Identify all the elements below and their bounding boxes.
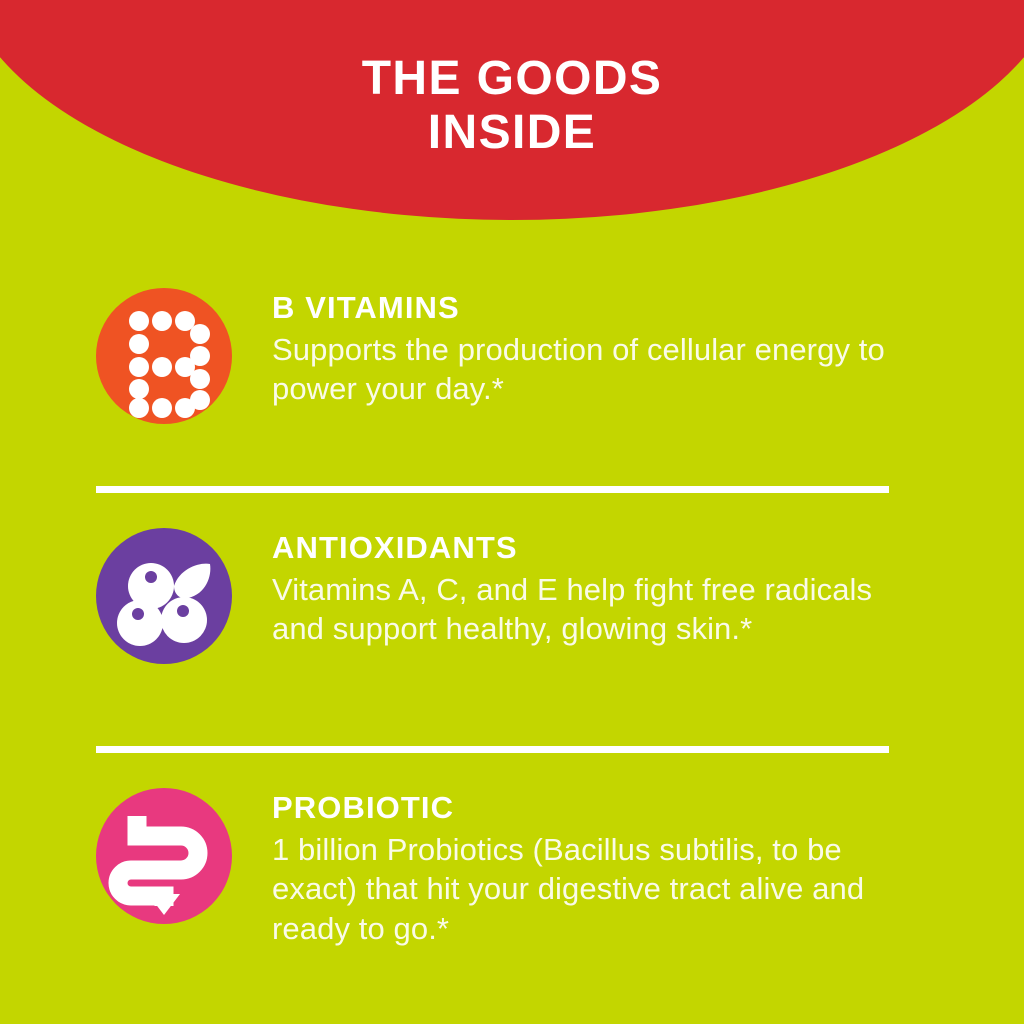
antioxidants-text: ANTIOXIDANTS Vitamins A, C, and E help f… xyxy=(272,528,928,649)
antioxidants-icon-wrap xyxy=(96,528,232,664)
dotted-b-icon xyxy=(96,288,232,424)
divider xyxy=(96,746,889,753)
b-vitamins-icon-wrap xyxy=(96,288,232,424)
page-title: THE GOODS INSIDE xyxy=(0,52,1024,160)
ingredient-description: 1 billion Probiotics (Bacillus subtilis,… xyxy=(272,830,928,949)
intestine-arrow-icon xyxy=(96,788,232,924)
list-item: PROBIOTIC 1 billion Probiotics (Bacillus… xyxy=(0,788,1024,949)
list-item: ANTIOXIDANTS Vitamins A, C, and E help f… xyxy=(0,528,1024,664)
probiotic-icon-wrap xyxy=(96,788,232,924)
header-banner: THE GOODS INSIDE xyxy=(0,0,1024,232)
ingredient-description: Supports the production of cellular ener… xyxy=(272,330,928,409)
ingredient-title: B VITAMINS xyxy=(272,290,928,326)
goods-inside-infographic: THE GOODS INSIDE xyxy=(0,0,1024,1024)
ingredient-description: Vitamins A, C, and E help fight free rad… xyxy=(272,570,928,649)
b-vitamins-text: B VITAMINS Supports the production of ce… xyxy=(272,288,928,409)
ingredient-title: ANTIOXIDANTS xyxy=(272,530,928,566)
divider xyxy=(96,486,889,493)
list-item: B VITAMINS Supports the production of ce… xyxy=(0,288,1024,424)
probiotic-text: PROBIOTIC 1 billion Probiotics (Bacillus… xyxy=(272,788,928,949)
ingredient-title: PROBIOTIC xyxy=(272,790,928,826)
berries-leaf-icon xyxy=(96,528,232,664)
